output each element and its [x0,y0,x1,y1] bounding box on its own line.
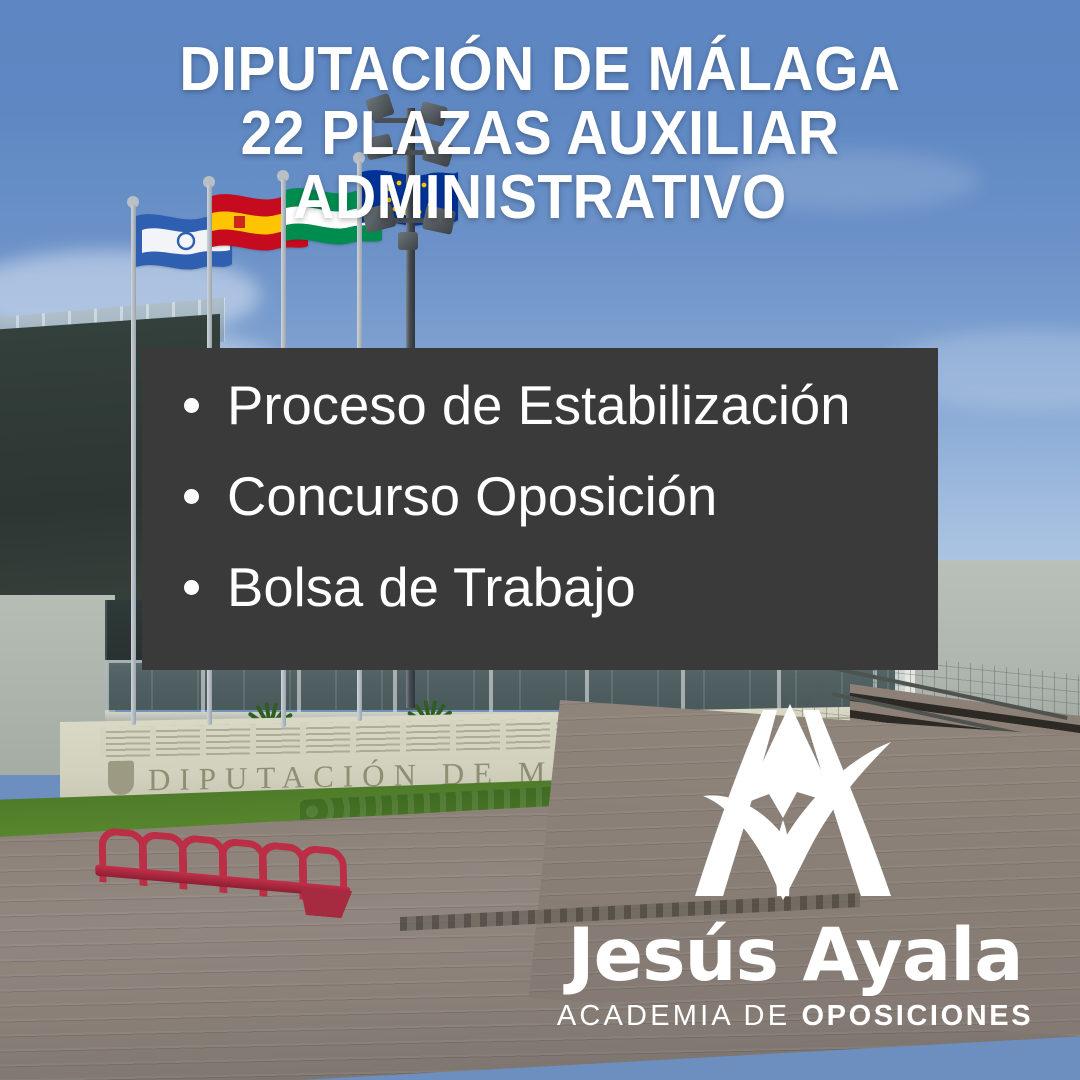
security-camera [398,232,418,250]
list-item-label: Concurso Oposición [227,469,717,524]
brand-name: Jesús Ayala [545,919,1045,992]
bullet-dot-icon [184,489,199,504]
provincial-crest [108,761,134,795]
tagline-bold-part: OPOSICIONES [802,1000,1034,1032]
poster-canvas: DIPUTACIÓN DE MÁLAGA [0,0,1080,1080]
brand-tagline: ACADEMIA DE OPOSICIONES [545,1000,1045,1033]
list-item-label: Bolsa de Trabajo [227,560,636,615]
bullet-dot-icon [184,398,199,413]
headline-line-1: DIPUTACIÓN DE MÁLAGA [43,38,1037,102]
bullet-dot-icon [184,580,199,595]
headline-line-3: ADMINISTRATIVO [43,166,1037,230]
features-list: Proceso de Estabilización Concurso Oposi… [142,348,938,615]
list-item: Bolsa de Trabajo [184,560,938,615]
list-item: Proceso de Estabilización [184,378,938,433]
brand-logo: Jesús Ayala ACADEMIA DE OPOSICIONES [545,700,1045,1050]
jesus-ayala-a-figure-logo-icon [685,700,905,915]
list-item: Concurso Oposición [184,469,938,524]
headline-line-2: 22 PLAZAS AUXILIAR [43,102,1037,166]
flagpole [131,205,136,725]
list-item-label: Proceso de Estabilización [227,378,850,433]
tagline-light-part: ACADEMIA DE [557,1000,790,1032]
features-panel: Proceso de Estabilización Concurso Oposi… [142,348,938,670]
headline: DIPUTACIÓN DE MÁLAGA 22 PLAZAS AUXILIAR … [0,38,1080,230]
